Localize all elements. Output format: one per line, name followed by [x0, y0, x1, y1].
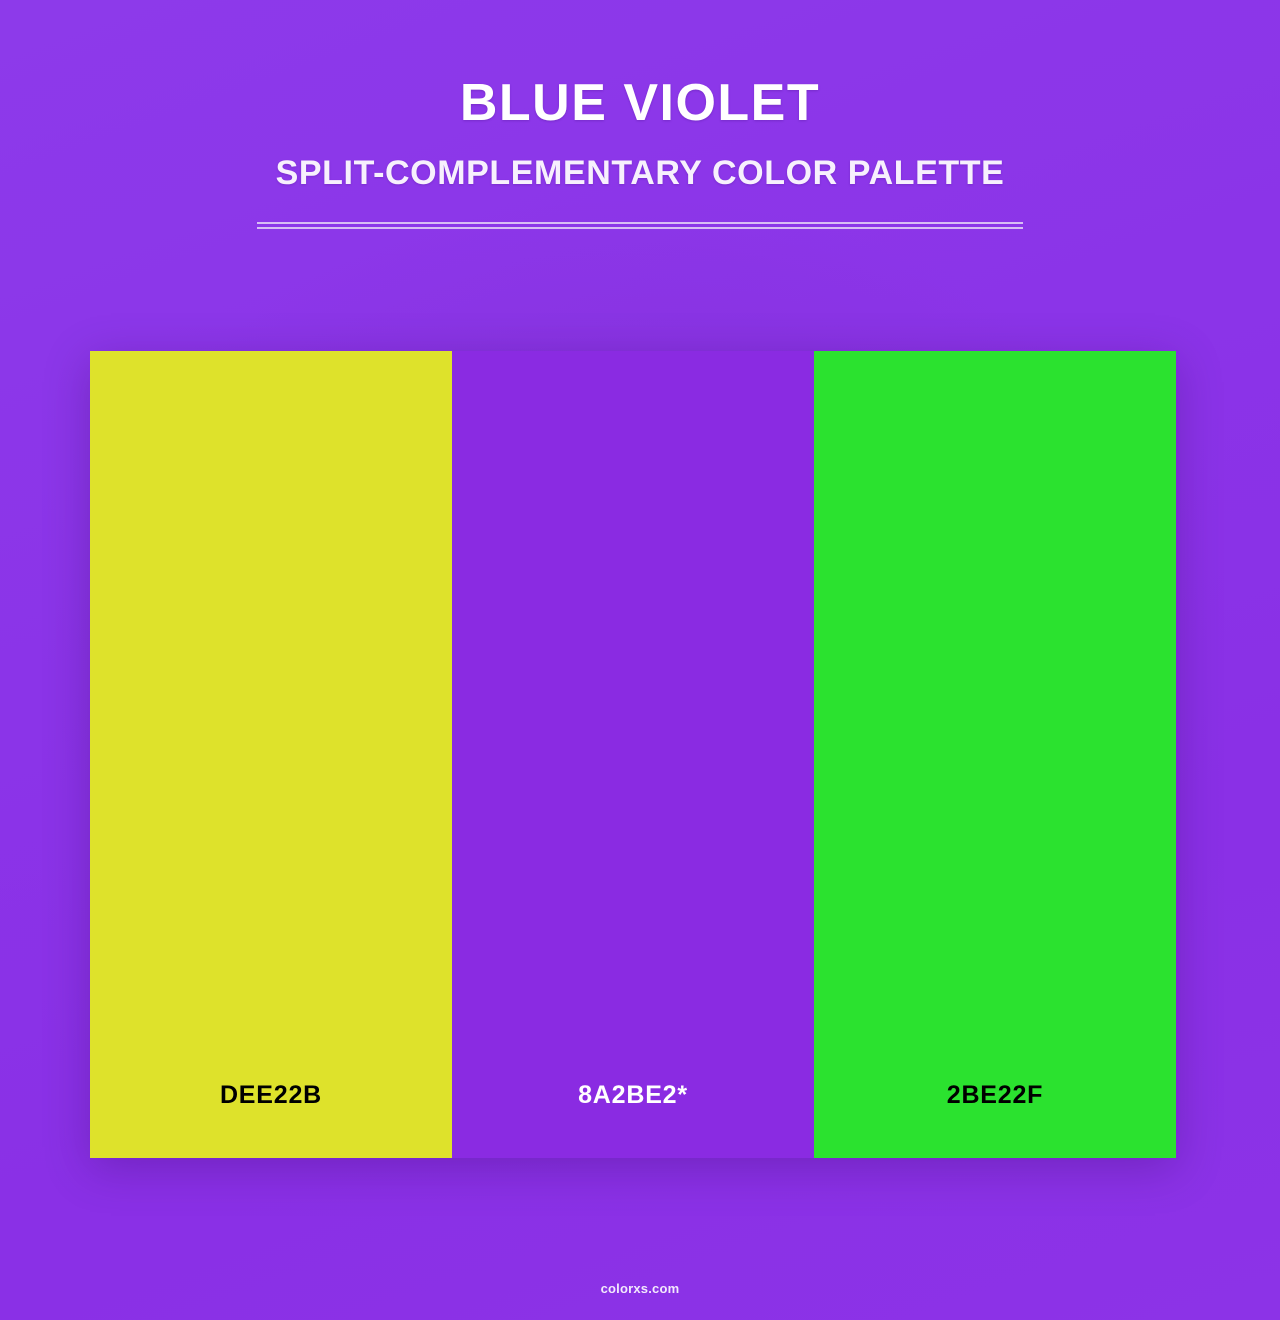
- header: BLUE VIOLET SPLIT-COMPLEMENTARY COLOR PA…: [0, 0, 1280, 229]
- color-swatch-2[interactable]: [452, 351, 814, 1032]
- color-hex-label-1: DEE22B: [220, 1081, 322, 1110]
- color-label-band-1: DEE22B: [90, 1032, 452, 1158]
- color-swatch-1[interactable]: [90, 351, 452, 1032]
- color-hex-label-3: 2BE22F: [947, 1081, 1044, 1110]
- swatch-column-3[interactable]: 2BE22F: [814, 351, 1176, 1158]
- page-title: BLUE VIOLET: [0, 0, 1280, 134]
- palette-card: DEE22B 8A2BE2* 2BE22F: [90, 351, 1176, 1158]
- color-label-band-2: 8A2BE2*: [452, 1032, 814, 1158]
- swatch-column-1[interactable]: DEE22B: [90, 351, 452, 1158]
- page-subtitle: SPLIT-COMPLEMENTARY COLOR PALETTE: [0, 134, 1280, 194]
- footer: colorxs.com: [0, 1280, 1280, 1320]
- color-swatch-3[interactable]: [814, 351, 1176, 1032]
- swatch-column-2[interactable]: 8A2BE2*: [452, 351, 814, 1158]
- color-label-band-3: 2BE22F: [814, 1032, 1176, 1158]
- palette-page: BLUE VIOLET SPLIT-COMPLEMENTARY COLOR PA…: [0, 0, 1280, 1320]
- color-hex-label-2: 8A2BE2*: [578, 1081, 688, 1110]
- footer-site-label[interactable]: colorxs.com: [601, 1281, 680, 1296]
- header-divider: [257, 222, 1023, 229]
